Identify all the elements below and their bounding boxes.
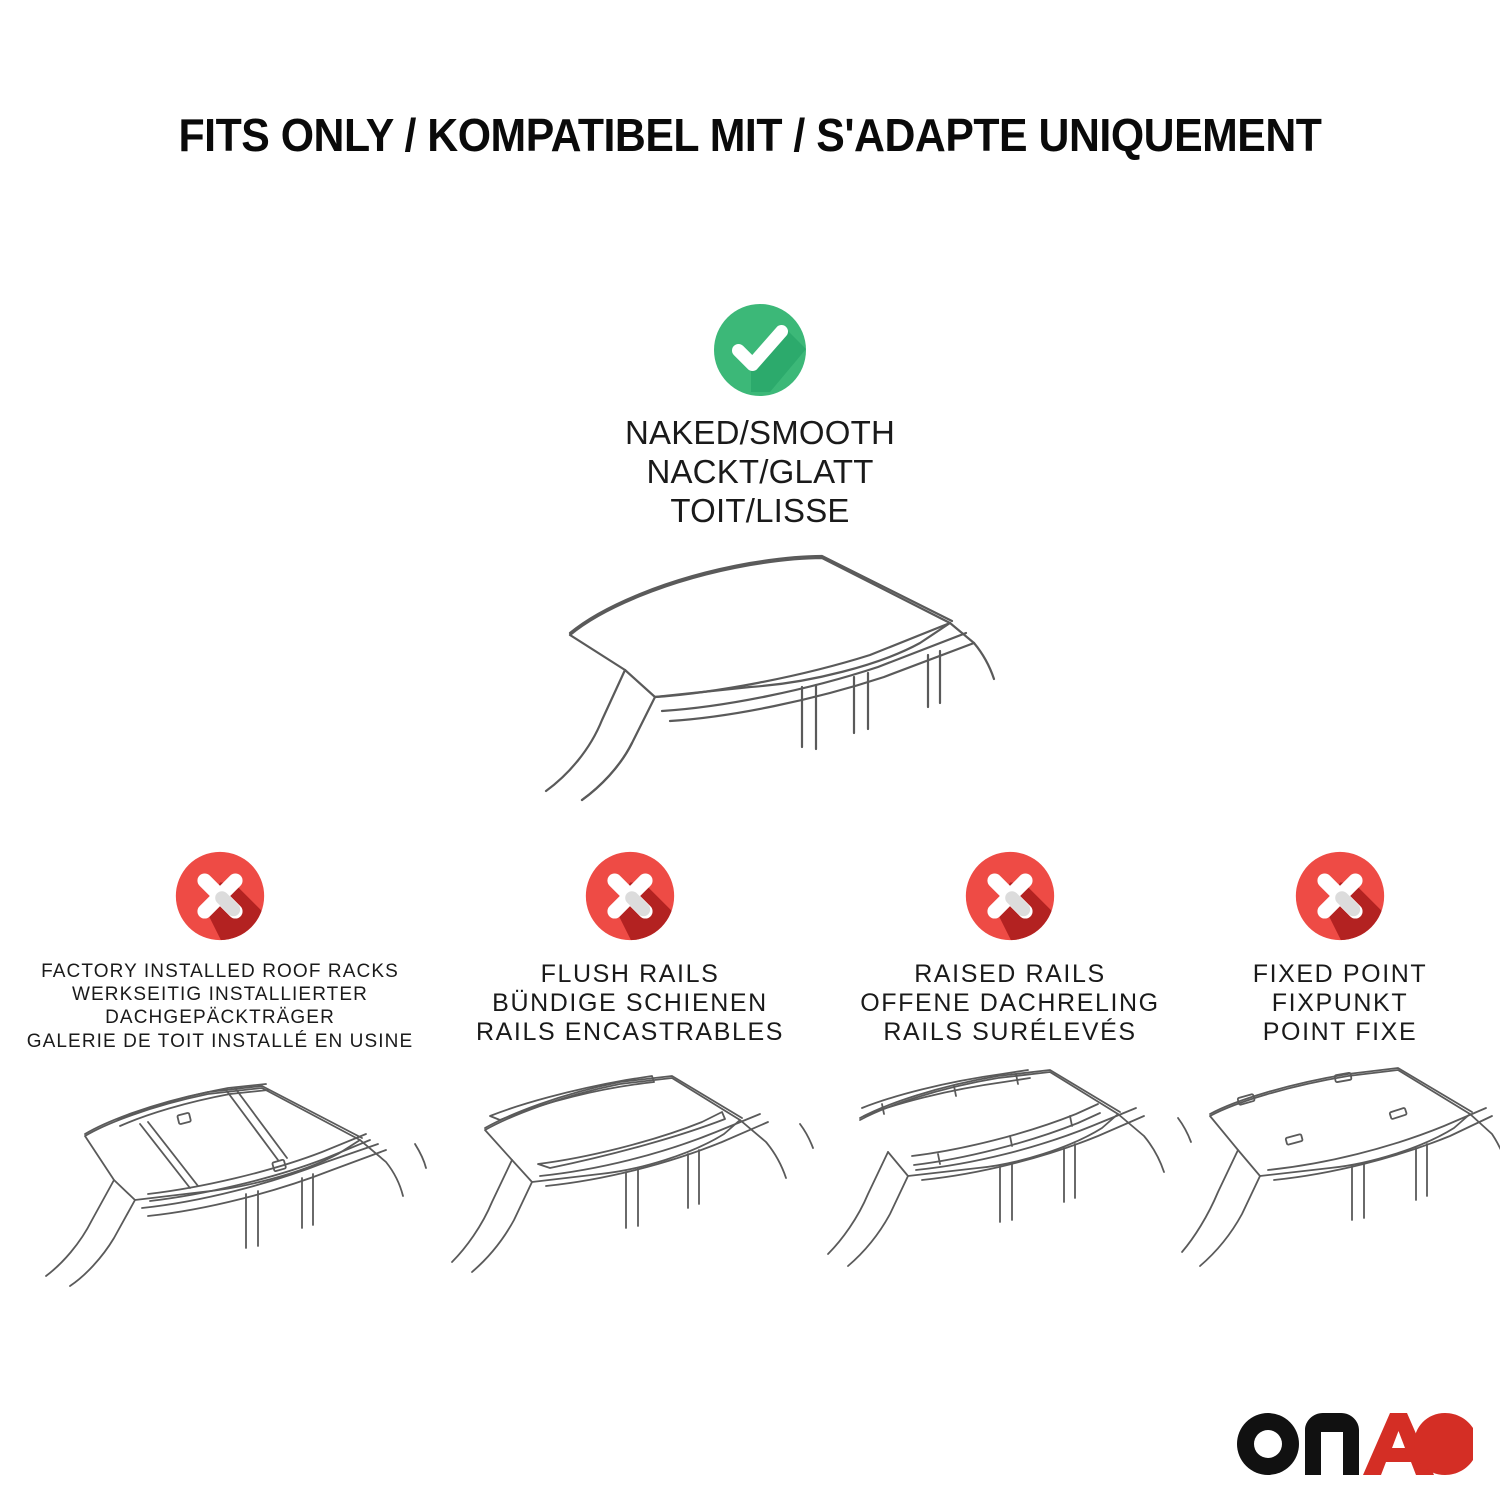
incompatible-labels: FIXED POINT FIXPUNKT POINT FIXE <box>1180 960 1500 1047</box>
flush-rails-illustration <box>440 1068 820 1298</box>
check-circle-icon <box>450 300 1070 400</box>
fixed-point-illustration <box>1180 1068 1500 1298</box>
compatible-roof-type-card: NAKED/SMOOTH NACKT/GLATT TOIT/LISSE <box>450 300 1070 531</box>
page-title: FITS ONLY / KOMPATIBEL MIT / S'ADAPTE UN… <box>53 108 1448 162</box>
cross-circle-icon <box>440 848 820 944</box>
incompatible-label-line-3: RAILS SURÉLEVÉS <box>820 1018 1200 1047</box>
incompatible-roof-type-card: RAISED RAILS OFFENE DACHRELING RAILS SUR… <box>820 848 1200 1047</box>
incompatible-label-line-3: POINT FIXE <box>1180 1018 1500 1047</box>
incompatible-label-line-2: BÜNDIGE SCHIENEN <box>440 989 820 1018</box>
incompatible-label-line-1: FLUSH RAILS <box>440 960 820 989</box>
cross-circle-icon <box>1180 848 1500 944</box>
compatible-label-en: NAKED/SMOOTH <box>450 414 1070 453</box>
bare-smooth-car-roof-illustration <box>450 515 1070 805</box>
incompatible-label-line-1: RAISED RAILS <box>820 960 1200 989</box>
incompatible-label-line-4: GALERIE DE TOIT INSTALLÉ EN USINE <box>10 1030 430 1053</box>
incompatible-labels: FACTORY INSTALLED ROOF RACKS WERKSEITIG … <box>10 960 430 1053</box>
incompatible-roof-type-card: FACTORY INSTALLED ROOF RACKS WERKSEITIG … <box>10 848 430 1053</box>
incompatible-label-line-2: WERKSEITIG INSTALLIERTER <box>10 983 430 1006</box>
incompatible-label-line-1: FACTORY INSTALLED ROOF RACKS <box>10 960 430 983</box>
raised-rails-illustration <box>820 1068 1200 1298</box>
compatible-labels: NAKED/SMOOTH NACKT/GLATT TOIT/LISSE <box>450 414 1070 531</box>
incompatible-roof-type-card: FLUSH RAILS BÜNDIGE SCHIENEN RAILS ENCAS… <box>440 848 820 1047</box>
incompatible-label-line-2: FIXPUNKT <box>1180 989 1500 1018</box>
incompatible-label-line-3: RAILS ENCASTRABLES <box>440 1018 820 1047</box>
incompatible-labels: FLUSH RAILS BÜNDIGE SCHIENEN RAILS ENCAS… <box>440 960 820 1047</box>
omac-logo <box>1235 1408 1475 1480</box>
incompatible-label-line-2: OFFENE DACHRELING <box>820 989 1200 1018</box>
factory-roof-rack-illustration <box>30 1068 430 1298</box>
compatible-label-de: NACKT/GLATT <box>450 453 1070 492</box>
incompatible-labels: RAISED RAILS OFFENE DACHRELING RAILS SUR… <box>820 960 1200 1047</box>
cross-circle-icon <box>10 848 430 944</box>
incompatible-label-line-3: DACHGEPÄCKTRÄGER <box>10 1006 430 1029</box>
cross-circle-icon <box>820 848 1200 944</box>
incompatible-label-line-1: FIXED POINT <box>1180 960 1500 989</box>
incompatible-roof-type-card: FIXED POINT FIXPUNKT POINT FIXE <box>1180 848 1500 1047</box>
